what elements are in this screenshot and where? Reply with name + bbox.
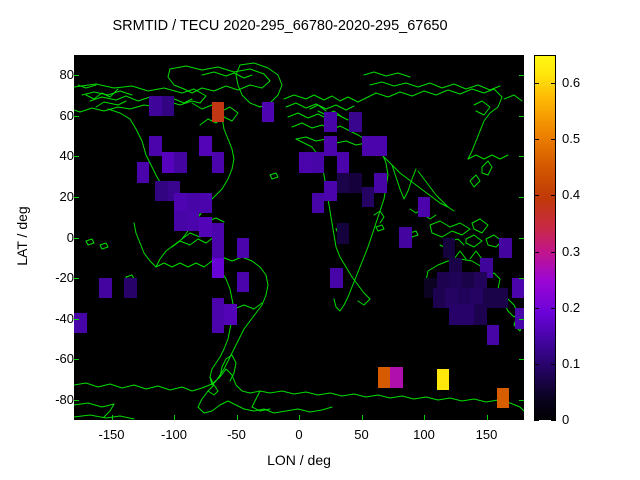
heatmap-cell <box>99 278 112 298</box>
heatmap-cell <box>237 272 250 292</box>
colorbar-tick-mark <box>534 83 539 84</box>
colorbar-tick-mark <box>534 252 539 253</box>
heatmap-cell <box>487 325 500 345</box>
y-tick-label: 20 <box>34 190 74 203</box>
heatmap-cell <box>495 288 508 308</box>
y-tick-mark <box>74 319 79 320</box>
y-axis-label: LAT / deg <box>14 176 30 296</box>
colorbar-tick-mark <box>551 195 556 196</box>
colorbar-tick-mark <box>551 420 556 421</box>
x-axis-label: LON / deg <box>74 452 524 468</box>
heatmap-cell <box>499 238 512 258</box>
heatmap-cell <box>174 193 187 213</box>
chart-title: SRMTID / TECU 2020-295_66780-2020-295_67… <box>0 18 560 34</box>
x-tick-mark <box>237 415 238 420</box>
colorbar-tick-mark <box>534 139 539 140</box>
colorbar-tick-mark <box>534 308 539 309</box>
y-tick-mark <box>74 400 79 401</box>
colorbar-tick-mark <box>534 195 539 196</box>
y-tick-mark <box>74 75 79 76</box>
y-tick-mark <box>74 278 79 279</box>
heatmap-cell <box>312 193 325 213</box>
colorbar-tick-label: 0 <box>562 413 612 426</box>
heatmap-cell <box>390 367 403 387</box>
y-tick-label: 40 <box>34 149 74 162</box>
heatmap-cell <box>199 217 212 237</box>
chart-root: SRMTID / TECU 2020-295_66780-2020-295_67… <box>0 0 640 480</box>
heatmap-cell <box>212 258 225 278</box>
heatmap-cell <box>374 136 387 156</box>
heatmap-cell <box>187 193 200 213</box>
heatmap-cell <box>312 152 325 172</box>
heatmap-cell <box>262 102 275 122</box>
heatmap-cell <box>418 197 431 217</box>
colorbar-tick-label: 0.6 <box>562 76 612 89</box>
y-tick-mark <box>519 116 524 117</box>
colorbar-tick-label: 0.4 <box>562 188 612 201</box>
colorbar-tick-mark <box>534 420 539 421</box>
heatmap-cell <box>433 288 446 308</box>
y-tick-mark <box>519 238 524 239</box>
colorbar-tick-mark <box>551 83 556 84</box>
heatmap-cell <box>212 152 225 172</box>
heatmap-cell <box>337 173 350 193</box>
y-tick-label: -40 <box>34 312 74 325</box>
colorbar-tick-mark <box>551 364 556 365</box>
heatmap-cell <box>174 211 187 231</box>
heatmap-cell <box>212 313 225 333</box>
colorbar-tick-mark <box>551 252 556 253</box>
heatmap-cell <box>212 223 225 243</box>
heatmap-cell <box>174 152 187 172</box>
x-tick-label: 150 <box>457 428 517 441</box>
heatmap-cell <box>337 152 350 172</box>
colorbar-tick-mark <box>551 308 556 309</box>
x-tick-mark <box>299 415 300 420</box>
x-tick-label: -50 <box>207 428 267 441</box>
colorbar-tick-mark <box>534 364 539 365</box>
colorbar-tick-label: 0.1 <box>562 357 612 370</box>
y-tick-label: 60 <box>34 109 74 122</box>
y-tick-mark <box>519 278 524 279</box>
heatmap-cell <box>149 96 162 116</box>
y-tick-label: -60 <box>34 352 74 365</box>
heatmap-cell <box>337 223 350 243</box>
y-tick-mark <box>74 116 79 117</box>
x-tick-mark <box>424 415 425 420</box>
heatmap-cell <box>474 304 487 324</box>
heatmap-cell <box>443 238 456 258</box>
y-tick-label: -80 <box>34 393 74 406</box>
y-tick-mark <box>519 319 524 320</box>
heatmap-cell <box>237 238 250 258</box>
heatmap-cell <box>137 162 150 182</box>
heatmap-cell <box>187 211 200 231</box>
heatmap-cell <box>124 278 137 298</box>
y-tick-mark <box>74 156 79 157</box>
y-tick-mark <box>519 359 524 360</box>
y-tick-mark <box>74 238 79 239</box>
heatmap-cell <box>497 388 510 408</box>
heatmap-cell <box>462 304 475 324</box>
x-tick-mark <box>174 415 175 420</box>
y-tick-label: 80 <box>34 68 74 81</box>
x-tick-label: 50 <box>332 428 392 441</box>
heatmap-cell <box>199 193 212 213</box>
y-tick-mark <box>519 156 524 157</box>
x-tick-label: 100 <box>394 428 454 441</box>
x-tick-label: -150 <box>82 428 142 441</box>
heatmap-cell <box>199 136 212 156</box>
heatmap-cell <box>324 181 337 201</box>
y-tick-mark <box>74 359 79 360</box>
colorbar[interactable] <box>534 55 556 420</box>
heatmap-cell <box>299 152 312 172</box>
colorbar-tick-label: 0.2 <box>562 301 612 314</box>
map-plot-area[interactable] <box>74 55 524 420</box>
colorbar-tick-label: 0.3 <box>562 245 612 258</box>
x-tick-mark <box>112 415 113 420</box>
heatmap-cell <box>378 367 391 387</box>
y-tick-mark <box>519 400 524 401</box>
heatmap-cell <box>437 369 450 389</box>
heatmap-cell <box>399 227 412 247</box>
heatmap-cell <box>324 112 337 132</box>
heatmap-cell <box>449 304 462 324</box>
y-tick-label: 0 <box>34 231 74 244</box>
heatmap-cell <box>162 96 175 116</box>
heatmap-cell <box>349 112 362 132</box>
y-tick-mark <box>519 75 524 76</box>
y-tick-mark <box>74 197 79 198</box>
heatmap-cell <box>162 152 175 172</box>
colorbar-tick-label: 0.5 <box>562 132 612 145</box>
heatmap-cell <box>149 136 162 156</box>
y-tick-label: -20 <box>34 271 74 284</box>
x-tick-label: 0 <box>269 428 329 441</box>
heatmap-cell <box>349 173 362 193</box>
heatmap-cell <box>512 278 525 298</box>
x-tick-mark <box>487 415 488 420</box>
heatmap-cell <box>74 313 87 333</box>
heatmap-cell <box>374 173 387 193</box>
heatmap-cell <box>155 181 168 201</box>
heatmap-cell <box>224 304 237 324</box>
heatmap-cell <box>362 136 375 156</box>
heatmap-cell <box>362 187 375 207</box>
colorbar-tick-mark <box>551 139 556 140</box>
heatmap-cell <box>330 268 343 288</box>
x-tick-mark <box>362 415 363 420</box>
heatmap-cell <box>324 136 337 156</box>
y-tick-mark <box>519 197 524 198</box>
heatmap-cell <box>212 102 225 122</box>
heatmap-cell-layer <box>74 55 524 420</box>
x-tick-label: -100 <box>144 428 204 441</box>
